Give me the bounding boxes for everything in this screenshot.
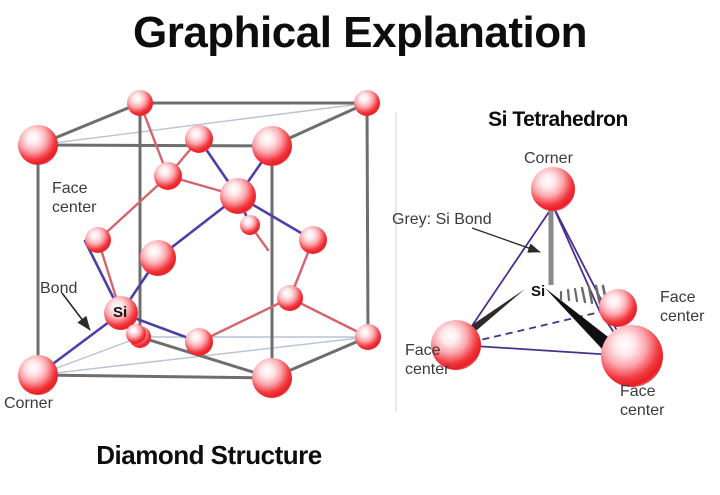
label-face-center-tetra-left: Facecenter [405, 341, 449, 379]
si-tetrahedron-diagram [0, 0, 720, 495]
si-bond-wedge-solid [545, 288, 612, 350]
label-corner-top: Corner [524, 149, 573, 168]
diagram-stage: Graphical Explanation [0, 0, 720, 495]
label-face-center-tetra-bottom: Facecenter [620, 382, 664, 420]
label-face-center-tetra-right: Facecenter [660, 288, 704, 326]
label-grey-si-bond: Grey: Si Bond [392, 210, 492, 229]
tetrahedron-atom-spheres [431, 167, 663, 387]
atom-label-si-tetra: Si [531, 284, 545, 300]
